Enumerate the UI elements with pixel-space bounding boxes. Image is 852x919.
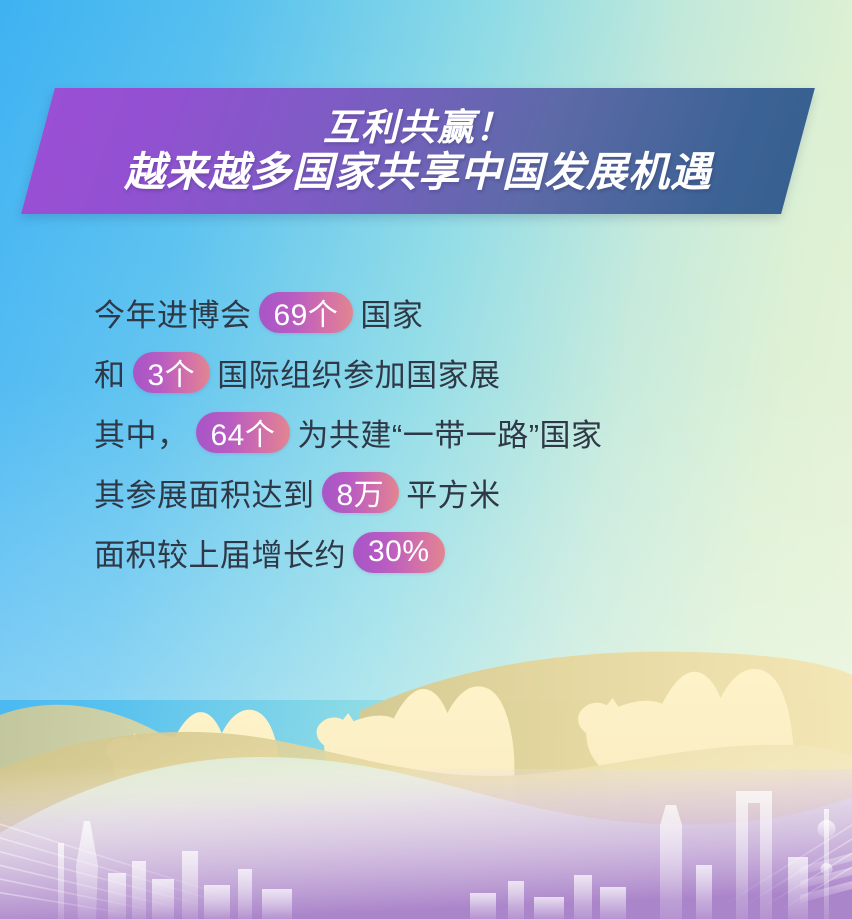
stat-text: 为共建“一带一路”国家 [297, 410, 602, 455]
stat-text: 今年进博会 [94, 290, 252, 335]
stat-text: 和 [94, 350, 126, 395]
stat-highlight-pill: 30% [353, 532, 445, 573]
title-banner: 互利共赢！ 越来越多国家共享中国发展机遇 [0, 0, 852, 240]
stat-highlight-pill: 3个 [133, 352, 211, 393]
stat-highlight-pill: 69个 [259, 292, 354, 333]
title-line-1: 互利共赢！ [323, 108, 513, 147]
stat-text: 国际组织参加国家展 [217, 350, 501, 395]
banner-text-group: 互利共赢！ 越来越多国家共享中国发展机遇 [38, 88, 798, 214]
city-skyline-illustration [0, 769, 852, 919]
infographic-poster: 互利共赢！ 越来越多国家共享中国发展机遇 今年进博会69个国家和3个国际组织参加… [0, 0, 852, 919]
stat-highlight-pill: 64个 [196, 412, 291, 453]
stat-text: 其参展面积达到 [94, 470, 315, 515]
stat-line: 面积较上届增长约30% [94, 522, 794, 582]
stat-text: 其中， [94, 410, 189, 455]
statistics-text-block: 今年进博会69个国家和3个国际组织参加国家展其中，64个为共建“一带一路”国家其… [94, 282, 794, 582]
stat-text: 国家 [360, 290, 423, 335]
title-line-2: 越来越多国家共享中国发展机遇 [124, 151, 712, 194]
stat-line: 今年进博会69个国家 [94, 282, 794, 342]
stat-text: 平方米 [406, 470, 501, 515]
stat-line: 其中，64个为共建“一带一路”国家 [94, 402, 794, 462]
stat-highlight-pill: 8万 [322, 472, 400, 513]
stat-line: 和3个国际组织参加国家展 [94, 342, 794, 402]
stat-line: 其参展面积达到8万平方米 [94, 462, 794, 522]
stat-text: 面积较上届增长约 [94, 530, 346, 575]
shanghai-tower [660, 805, 682, 919]
